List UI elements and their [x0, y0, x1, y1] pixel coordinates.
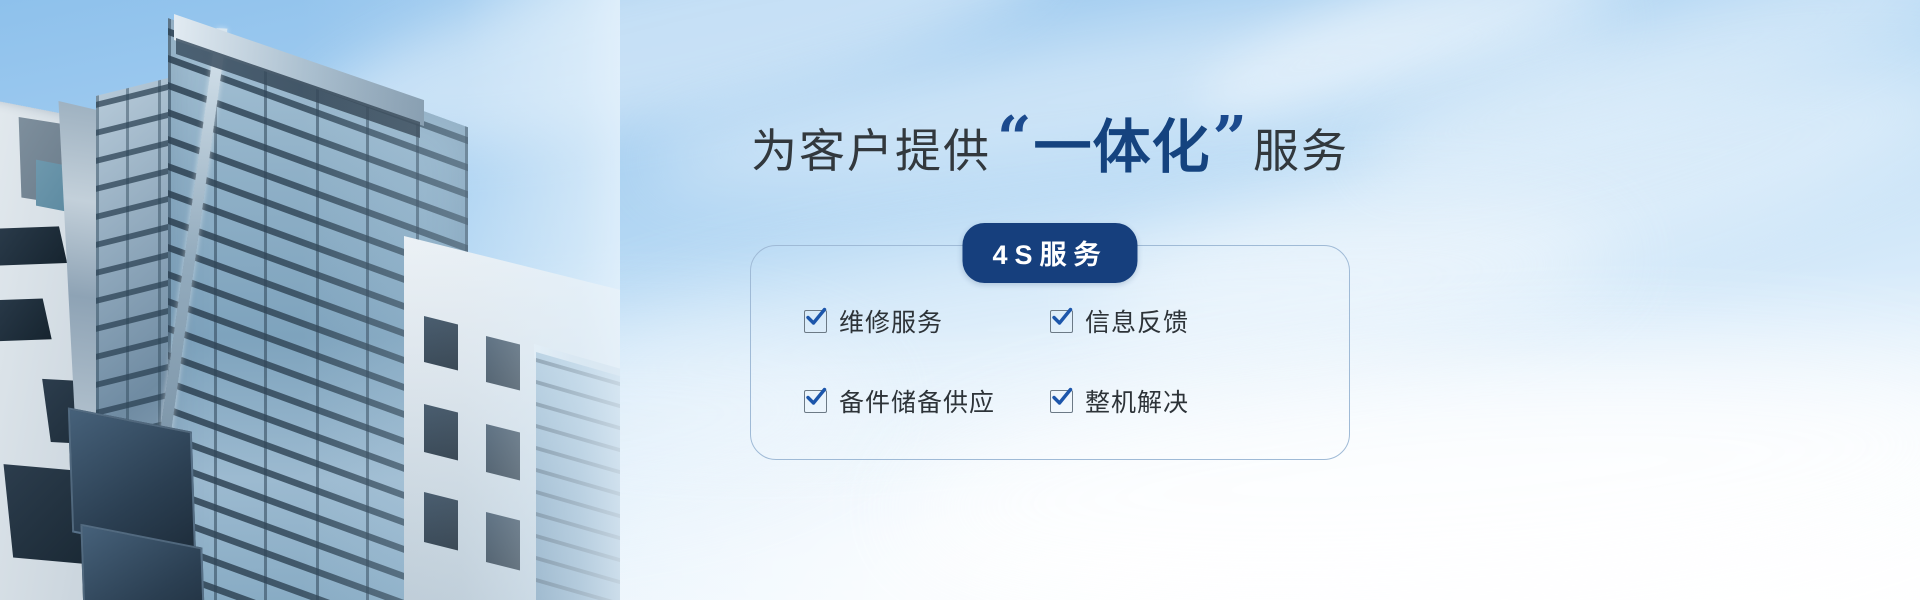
facade-floor-band — [536, 380, 620, 416]
punched-window — [486, 424, 520, 480]
headline-accent: 一体化 — [1033, 100, 1210, 184]
checklist-item-label: 备件储备供应 — [839, 383, 995, 419]
window-slot — [0, 226, 67, 265]
punched-window — [424, 404, 458, 460]
facade-mullion — [264, 53, 267, 600]
headline-suffix: 服务 — [1253, 115, 1349, 181]
checkbox-checked-icon — [1050, 310, 1073, 333]
facade-floor-band — [536, 468, 620, 504]
checklist-item-label: 信息反馈 — [1085, 303, 1189, 339]
facade-floor-band — [536, 446, 620, 482]
facade-mullion — [366, 90, 369, 600]
facade-mullion — [316, 72, 319, 600]
punched-window — [424, 316, 458, 370]
punched-window — [424, 492, 458, 550]
facade-floor-band — [536, 402, 620, 438]
checkbox-checked-icon — [804, 390, 827, 413]
facade-floor-band — [536, 578, 620, 600]
office-building-photo — [0, 0, 620, 600]
checklist-item-label: 整机解决 — [1085, 383, 1189, 419]
punched-window — [486, 512, 520, 570]
facade-floor-band — [536, 490, 620, 526]
window-slot — [0, 299, 52, 342]
far-building-glazing-grid — [536, 352, 620, 600]
facade-floor-band — [536, 424, 620, 460]
facade-floor-band — [536, 534, 620, 570]
facade-floor-band — [536, 512, 620, 548]
checklist-item: 整机解决 — [1050, 383, 1296, 419]
banner-content: 为客户提供 “ 一体化 ” 服务 4S服务 维修服务信息反馈备件储备供应整机解决 — [700, 0, 1920, 600]
service-banner: 为客户提供 “ 一体化 ” 服务 4S服务 维修服务信息反馈备件储备供应整机解决 — [0, 0, 1920, 600]
service-panel: 4S服务 维修服务信息反馈备件储备供应整机解决 — [750, 245, 1350, 460]
checkbox-checked-icon — [804, 310, 827, 333]
checklist-item: 备件储备供应 — [804, 383, 1050, 419]
checklist-item: 维修服务 — [804, 303, 1050, 339]
headline: 为客户提供 “ 一体化 ” 服务 — [740, 100, 1360, 184]
punched-window — [486, 336, 520, 390]
facade-floor-band — [536, 556, 620, 592]
headline-prefix: 为客户提供 — [751, 115, 991, 181]
checkbox-checked-icon — [1050, 390, 1073, 413]
service-checklist: 维修服务信息反馈备件储备供应整机解决 — [750, 293, 1350, 419]
checklist-item: 信息反馈 — [1050, 303, 1296, 339]
service-badge: 4S服务 — [962, 223, 1137, 283]
checklist-item-label: 维修服务 — [839, 303, 943, 339]
